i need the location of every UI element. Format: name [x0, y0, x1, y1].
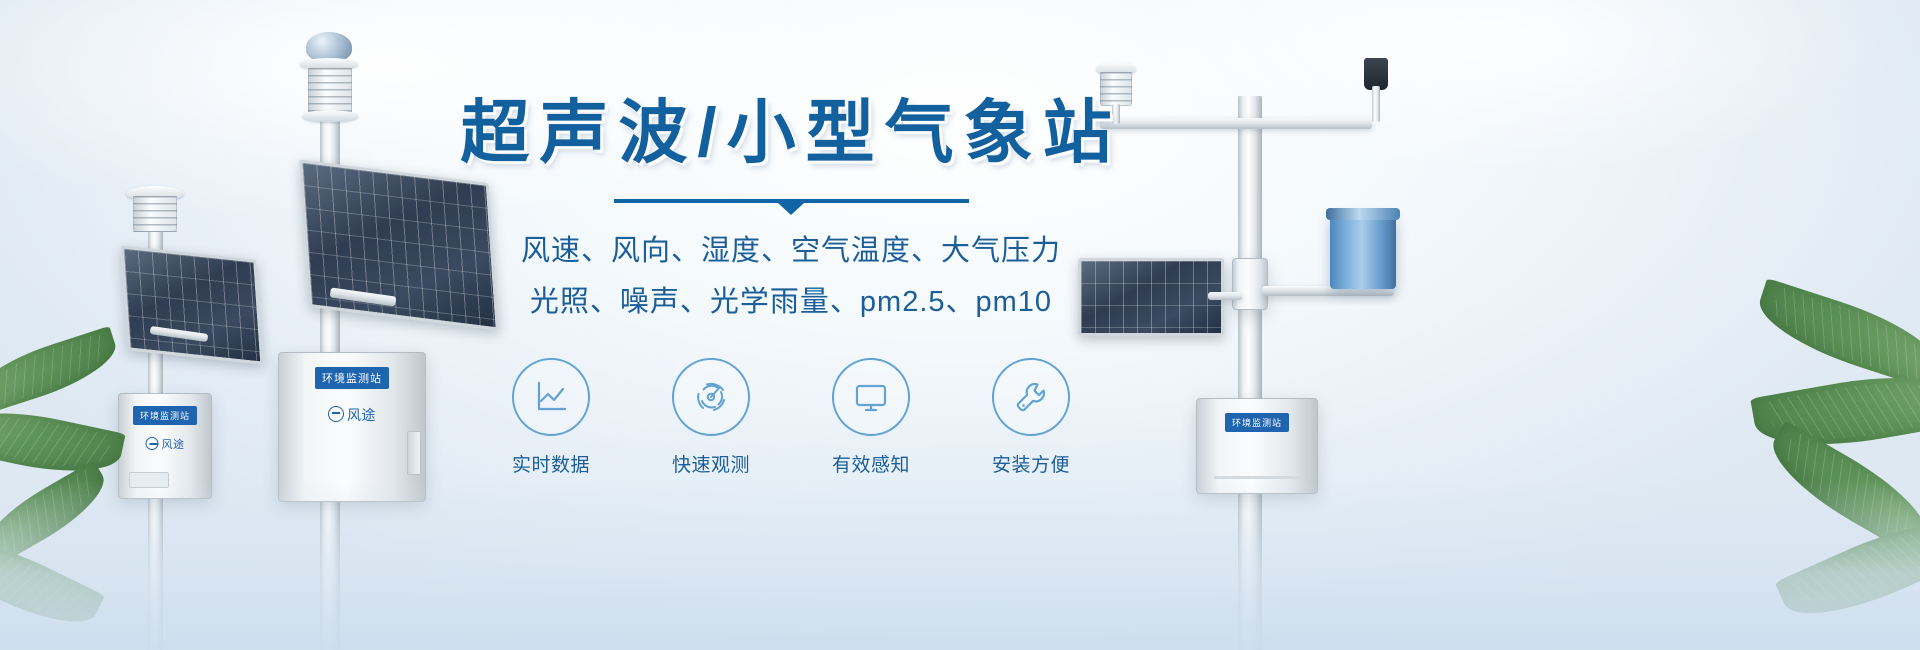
center-station-brand: 风途: [328, 405, 376, 425]
right-mast-collar: [1232, 258, 1268, 310]
feature-label: 安装方便: [981, 450, 1081, 477]
right-panel-bracket: [1208, 292, 1242, 300]
monitor-icon: [850, 376, 892, 418]
right-camera-stem: [1372, 86, 1380, 122]
center-sensor-base: [302, 110, 358, 122]
feature-item-realtime-data[interactable]: 实时数据: [501, 358, 601, 477]
left-station-brand: 风途: [146, 436, 185, 452]
optical-rain-gauge: [1330, 215, 1396, 289]
product-banner: 环境监测站 风途 环境监测站 风途: [0, 0, 1920, 650]
left-solar-panel: [121, 245, 264, 364]
leaf-shape: [1750, 278, 1920, 390]
left-station-label: 环境监测站: [133, 406, 197, 425]
center-station-enclosure: 环境监测站 风途: [278, 352, 426, 502]
leaf-shape: [0, 460, 116, 568]
feature-icon-circle: [992, 358, 1070, 436]
left-station-enclosure: 环境监测站 风途: [118, 393, 212, 499]
leaf-shape: [1750, 362, 1920, 460]
leaf-shape: [1775, 503, 1920, 636]
right-station-mast: [1238, 96, 1262, 650]
leaf-shape: [1759, 421, 1920, 558]
center-station-label: 环境监测站: [315, 367, 389, 389]
feature-icon-circle: [832, 358, 910, 436]
banner-content: 超声波/小型气象站 风速、风向、湿度、空气温度、大气压力 光照、噪声、光学雨量、…: [432, 96, 1150, 477]
feature-icon-circle: [672, 358, 750, 436]
feature-item-easy-install[interactable]: 安装方便: [981, 358, 1081, 477]
banner-subtitle-line-2: 光照、噪声、光学雨量、pm2.5、pm10: [432, 278, 1150, 328]
feature-icon-circle: [512, 358, 590, 436]
feature-label: 实时数据: [501, 450, 601, 477]
caret-down-icon: [778, 203, 804, 215]
right-foliage: [1700, 296, 1920, 650]
left-station-vent: [129, 472, 169, 488]
brand-mark-icon: [328, 406, 344, 422]
feature-label: 有效感知: [821, 450, 921, 477]
center-station-hinge: [407, 431, 421, 475]
headline-divider: [614, 199, 969, 203]
banner-subtitle-line-1: 风速、风向、湿度、空气温度、大气压力: [432, 227, 1150, 277]
center-radiation-shield: [308, 68, 352, 114]
ground-haze: [0, 480, 1920, 650]
feature-item-fast-observation[interactable]: 快速观测: [661, 358, 761, 477]
banner-headline: 超声波/小型气象站: [432, 96, 1150, 171]
wrench-icon: [1010, 376, 1052, 418]
leaf-shape: [0, 399, 126, 485]
feature-label: 快速观测: [661, 450, 761, 477]
feature-item-effective-sensing[interactable]: 有效感知: [821, 358, 921, 477]
line-chart-icon: [530, 376, 572, 418]
left-temp-humidity-sensor: [133, 196, 177, 232]
right-station-enclosure: 环境监测站: [1196, 398, 1318, 494]
right-station-label: 环境监测站: [1225, 413, 1289, 432]
feature-list: 实时数据 快速观测: [432, 358, 1150, 477]
right-station-seam: [1214, 476, 1300, 479]
radar-scan-icon: [690, 376, 732, 418]
brand-mark-icon: [146, 437, 159, 450]
leaf-shape: [0, 525, 105, 640]
leaf-shape: [0, 326, 123, 416]
